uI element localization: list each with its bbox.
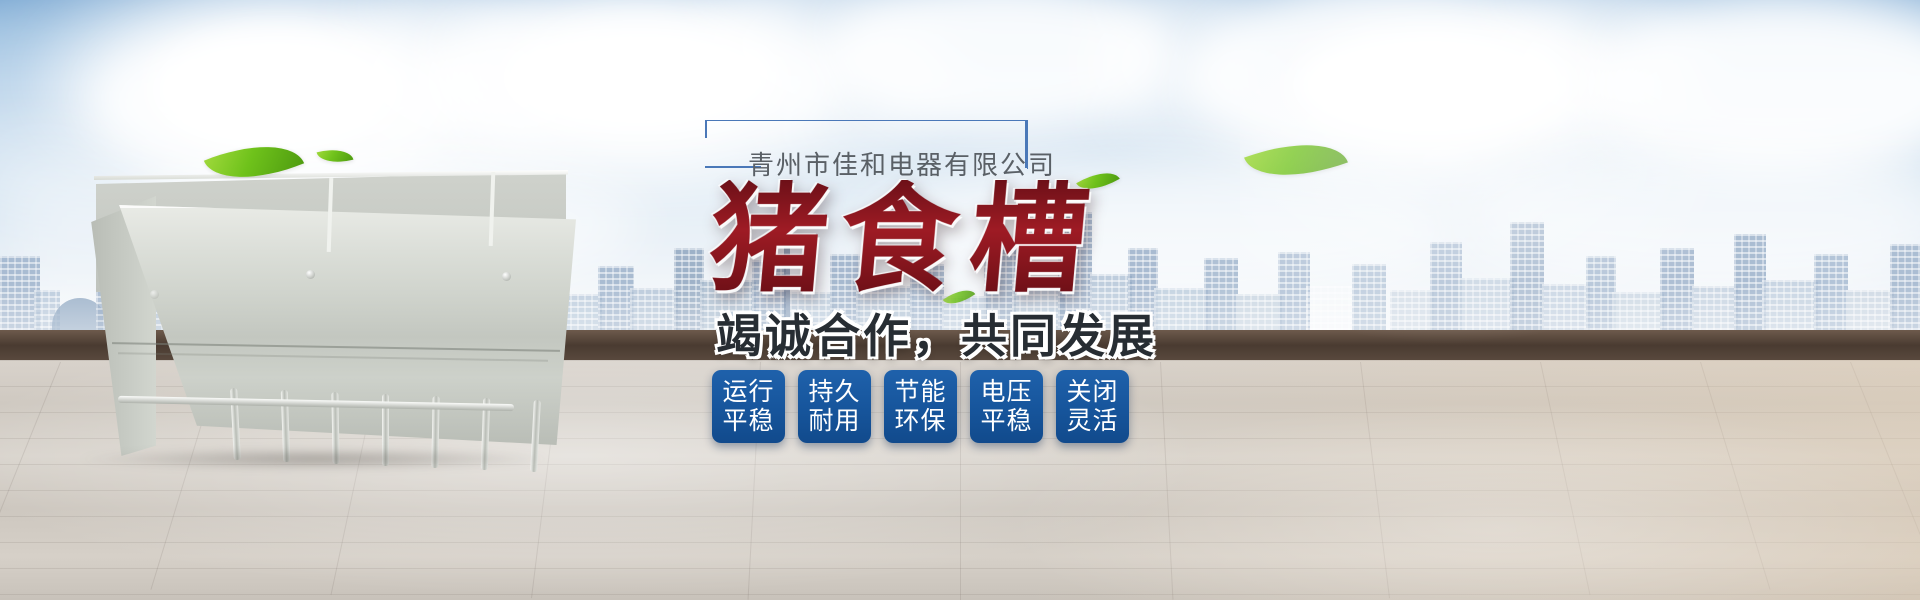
badge-line-1: 持久 — [808, 378, 860, 406]
feature-badge[interactable]: 关闭 灵活 — [1056, 370, 1129, 443]
feature-badge[interactable]: 运行 平稳 — [712, 370, 785, 443]
badge-line-2: 耐用 — [808, 407, 860, 435]
stainless-steel-feeder-trough-image — [60, 150, 600, 480]
badge-line-1: 运行 — [722, 378, 774, 406]
badge-line-1: 关闭 — [1066, 378, 1118, 406]
subtitle-slogan: 竭诚合作，共同发展 — [716, 300, 1157, 366]
badge-line-1: 电压 — [980, 378, 1032, 406]
feature-badge-list: 运行 平稳 持久 耐用 节能 环保 电压 平稳 关闭 灵活 — [712, 370, 1129, 443]
feature-badge[interactable]: 持久 耐用 — [798, 370, 871, 443]
banner-copy-block: 青州市佳和电器有限公司 猪食槽 竭诚合作，共同发展 运行 平稳 持久 耐用 节能… — [690, 95, 1330, 515]
feature-badge[interactable]: 节能 环保 — [884, 370, 957, 443]
feeder-ground-shadow — [80, 448, 550, 470]
badge-line-1: 节能 — [894, 378, 946, 406]
promotional-banner: 青州市佳和电器有限公司 猪食槽 竭诚合作，共同发展 运行 平稳 持久 耐用 节能… — [0, 0, 1920, 600]
page-title: 猪食槽 — [705, 180, 1105, 298]
badge-line-2: 平稳 — [722, 407, 774, 435]
feature-badge[interactable]: 电压 平稳 — [970, 370, 1043, 443]
badge-line-2: 灵活 — [1066, 407, 1118, 435]
badge-line-2: 环保 — [894, 407, 946, 435]
badge-line-2: 平稳 — [980, 407, 1032, 435]
